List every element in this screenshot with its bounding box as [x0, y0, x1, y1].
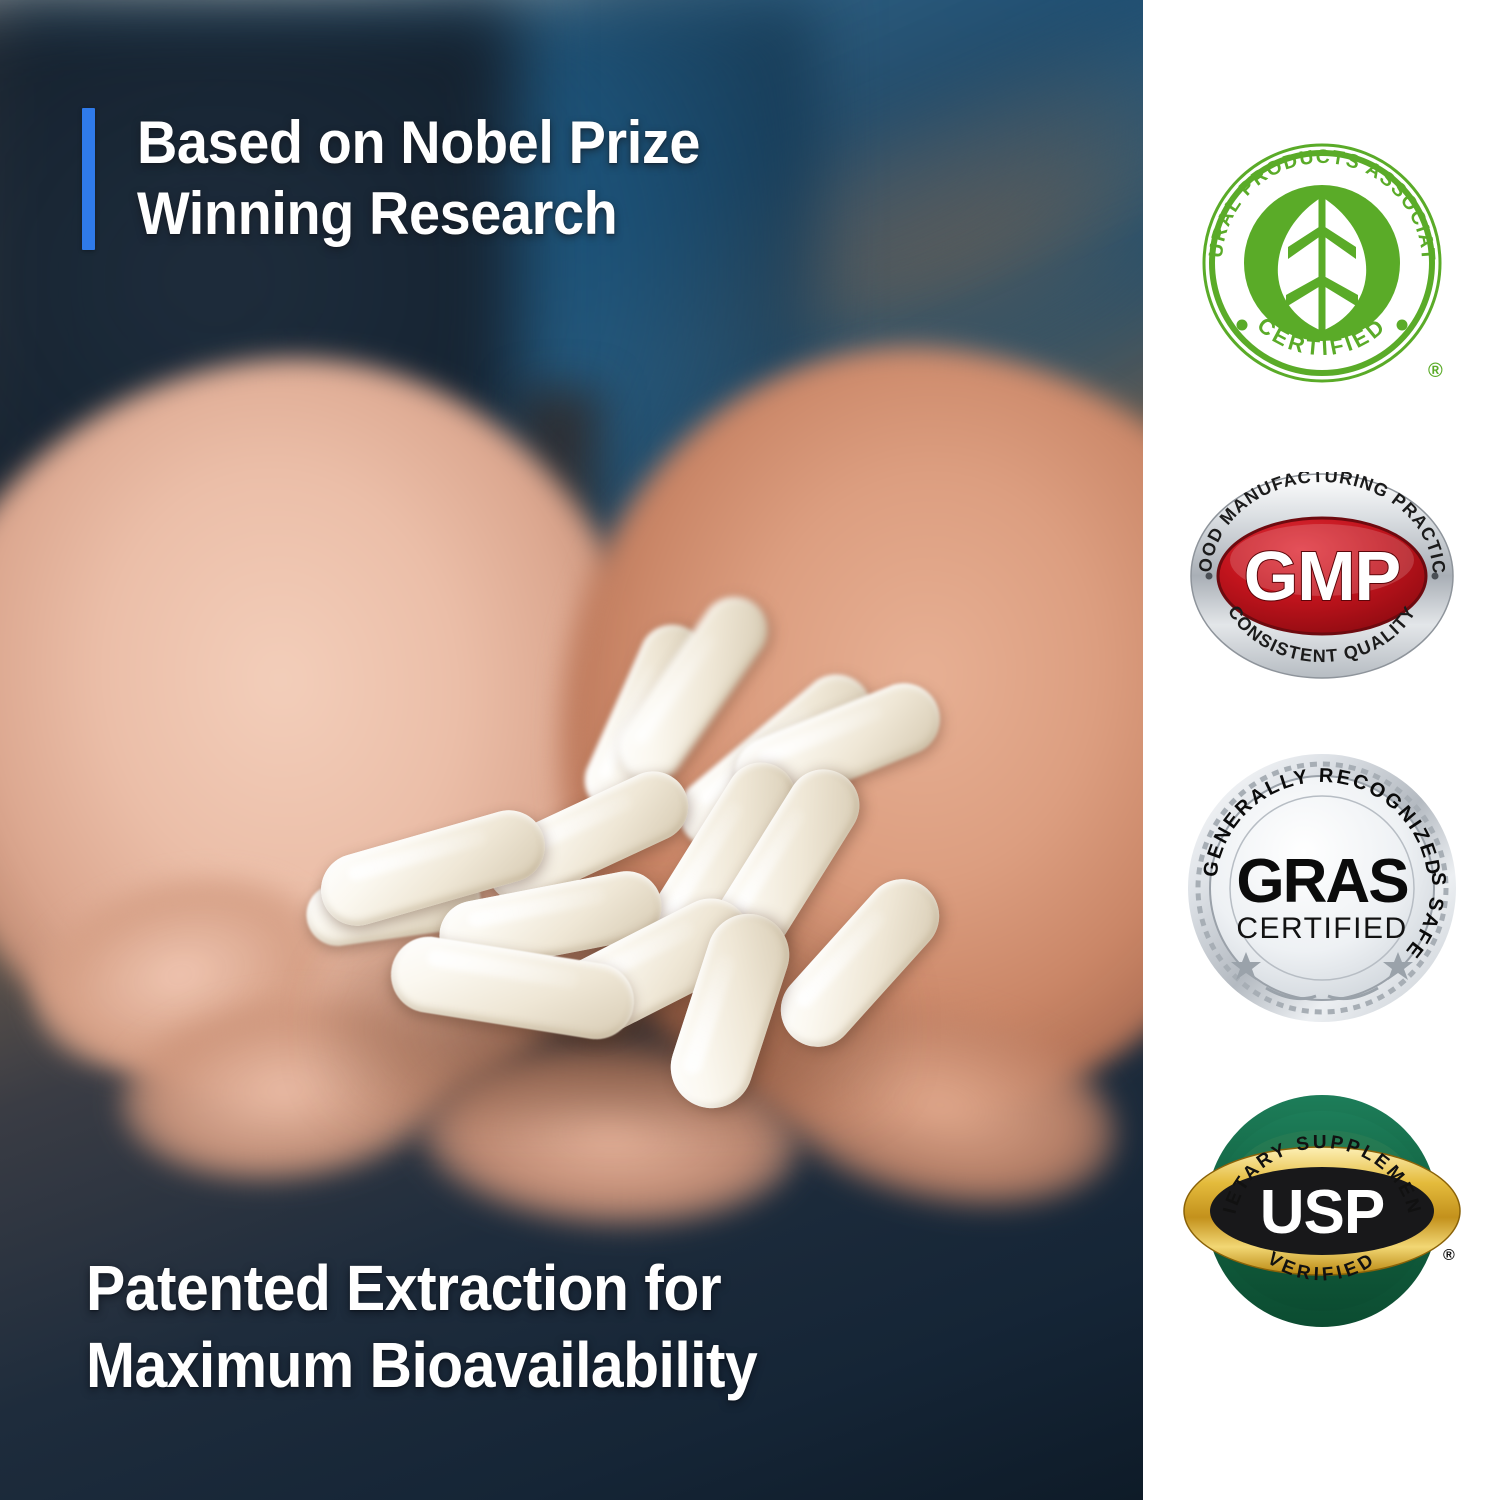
hero-photo: Based on Nobel Prize Winning Research Pa… — [0, 0, 1143, 1500]
npa-registered-mark: ® — [1428, 360, 1443, 382]
gras-center-text: GRAS — [1236, 847, 1407, 916]
certification-badge-rail: NATURAL PRODUCTS ASSOCIATION CERTIFIED ® — [1143, 0, 1500, 1500]
gras-sub-text: CERTIFIED — [1236, 912, 1407, 945]
headline-bottom-text: Patented Extraction for Maximum Bioavail… — [86, 1250, 757, 1404]
headline-top-text: Based on Nobel Prize Winning Research — [137, 108, 700, 250]
capsule-pile — [330, 700, 890, 1100]
badge-usp-verified: DIETARY SUPPLEMENT VERIFIED USP ® — [1183, 1092, 1461, 1330]
product-marketing-image: Based on Nobel Prize Winning Research Pa… — [0, 0, 1500, 1500]
gmp-center-text: GMP — [1243, 537, 1399, 615]
usp-registered-mark: ® — [1443, 1247, 1455, 1264]
badge-npa-certified: NATURAL PRODUCTS ASSOCIATION CERTIFIED ® — [1198, 118, 1446, 408]
headline-top: Based on Nobel Prize Winning Research — [82, 108, 742, 250]
usp-center-text: USP — [1259, 1178, 1383, 1247]
accent-bar — [82, 108, 95, 250]
badge-gras-certified: GENERALLY RECOGNIZED AS SAFE GRAS CERTIF… — [1186, 752, 1458, 1024]
badge-gmp: GOOD MANUFACTURING PRACTICE CONSISTENT Q… — [1189, 472, 1455, 680]
